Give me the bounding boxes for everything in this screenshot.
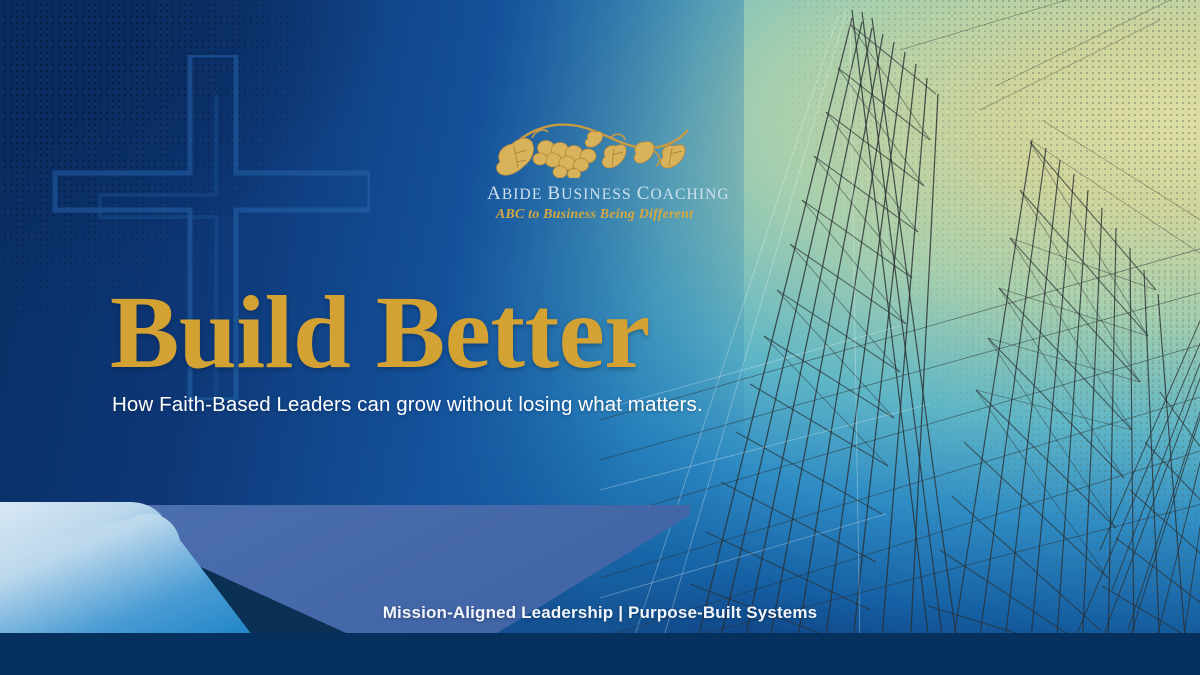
logo-name-usiness: USINESS [561,186,632,203]
logo-name-oaching: OACHING [651,186,730,203]
grapevine-icon [492,116,697,178]
logo: ABIDE BUSINESS COACHING ABC to Business … [487,116,702,236]
logo-company-name: ABIDE BUSINESS COACHING [487,183,702,205]
page-subtitle: How Faith-Based Leaders can grow without… [112,393,703,417]
logo-name-a: A [487,183,502,204]
logo-tagline: ABC to Business Being Different [487,207,702,223]
logo-name-bide: BIDE [502,186,543,203]
logo-name-c: C [637,183,651,204]
logo-name-b: B [547,183,561,204]
page-title: Build Better [110,281,650,385]
presentation-slide: ABIDE BUSINESS COACHING ABC to Business … [0,0,1200,675]
bottom-bar [0,633,1200,675]
wireframe-building-icon [600,0,1200,650]
footer-tagline: Mission-Aligned Leadership | Purpose-Bui… [0,603,1200,623]
